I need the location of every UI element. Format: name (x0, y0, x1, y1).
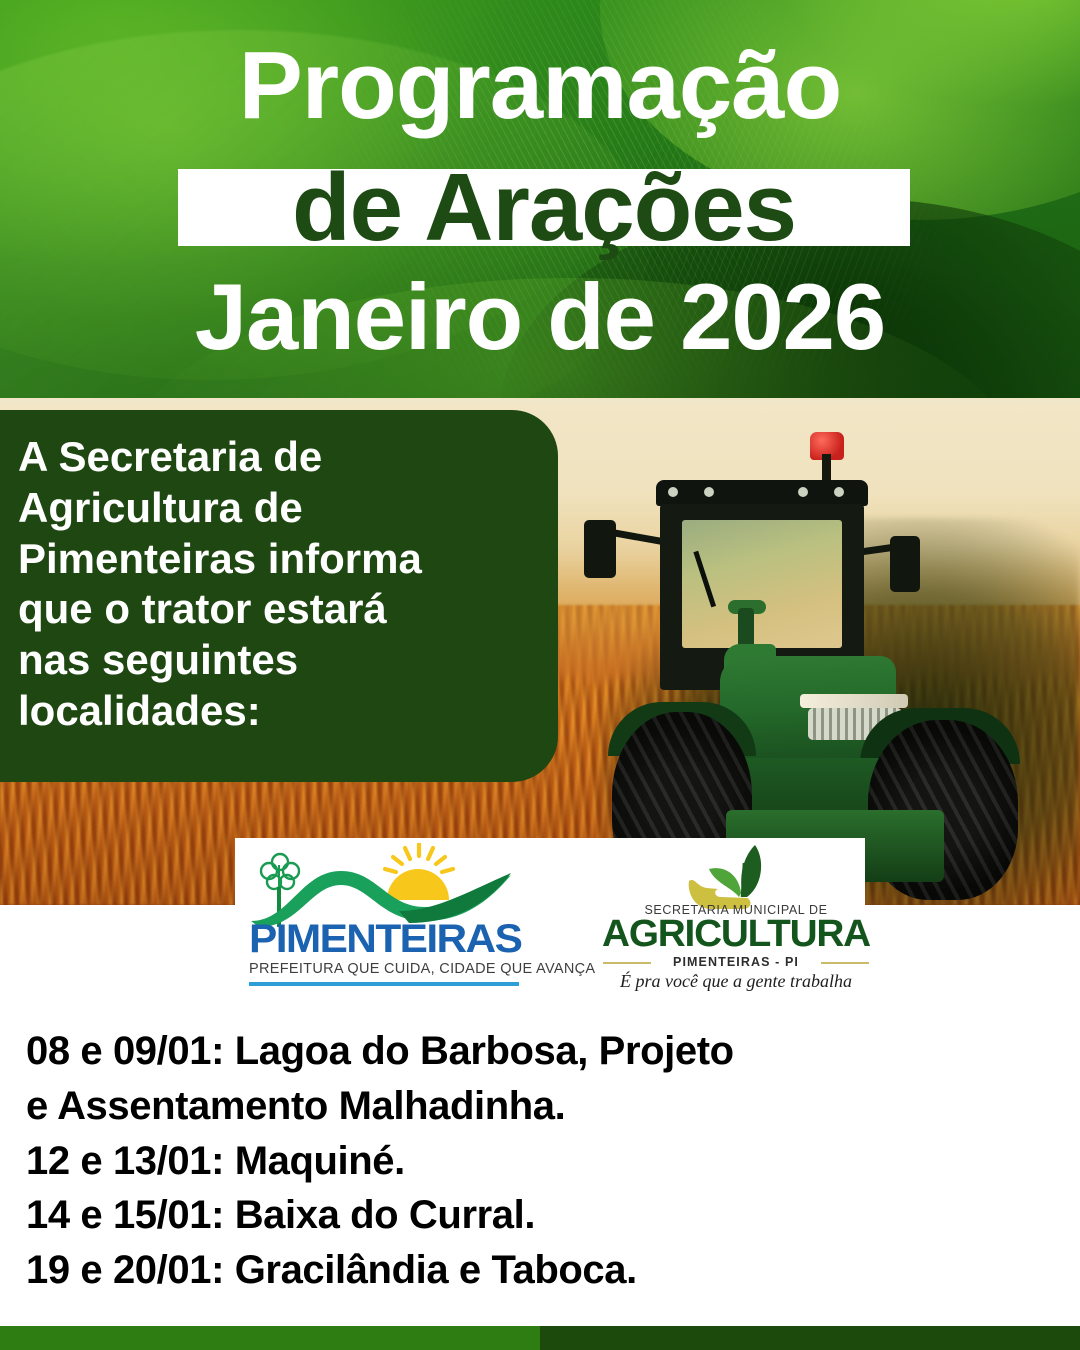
agricultura-city-label: PIMENTEIRAS - PI (597, 955, 875, 969)
agricultura-logo-art (597, 845, 875, 907)
agricultura-logo: SECRETARIA MUNICIPAL DE AGRICULTURA PIME… (597, 845, 875, 995)
agricultura-slogan: É pra você que a gente trabalha (597, 971, 875, 992)
title-line-de-aracoes: de Arações (178, 152, 910, 264)
tractor-mirror-right (890, 536, 920, 592)
bottom-bar-left-segment (0, 1326, 540, 1350)
poster-title-group: Programação de Arações Janeiro de 2026 (0, 0, 1080, 398)
tractor-headlights (800, 694, 908, 708)
info-card-text: A Secretaria de Agricultura de Pimenteir… (18, 432, 528, 737)
logo-row: PIMENTEIRAS PREFEITURA QUE CUIDA, CIDADE… (235, 845, 875, 1000)
tractor-cab-roof (656, 480, 868, 506)
pimenteiras-logo-art (235, 845, 535, 925)
tractor-mirror-left (584, 520, 616, 578)
agricultura-wordmark: AGRICULTURA (594, 915, 878, 953)
header-banner: Programação de Arações Janeiro de 2026 (0, 0, 1080, 398)
leaf-sprout-icon (703, 841, 777, 899)
pimenteiras-logo: PIMENTEIRAS PREFEITURA QUE CUIDA, CIDADE… (235, 845, 535, 995)
schedule-item: 12 e 13/01: Maquiné. (26, 1134, 1056, 1189)
bottom-bar-right-segment (540, 1326, 1080, 1350)
schedule-list: 08 e 09/01: Lagoa do Barbosa, Projeto e … (26, 1024, 1056, 1298)
title-line-janeiro-2026: Janeiro de 2026 (0, 270, 1080, 364)
schedule-item: 08 e 09/01: Lagoa do Barbosa, Projeto e … (26, 1024, 1056, 1134)
info-card: A Secretaria de Agricultura de Pimenteir… (0, 410, 558, 782)
title-line-programacao: Programação (0, 38, 1080, 134)
schedule-item: 19 e 20/01: Gracilândia e Taboca. (26, 1243, 1056, 1298)
pimenteiras-tagline: PREFEITURA QUE CUIDA, CIDADE QUE AVANÇA (249, 961, 595, 977)
schedule-item: 14 e 15/01: Baixa do Curral. (26, 1188, 1056, 1243)
pimenteiras-wordmark: PIMENTEIRAS (249, 919, 521, 959)
tractor-mirror-arm-left (614, 530, 666, 546)
pimenteiras-underline (249, 982, 519, 986)
bottom-bar (0, 1326, 1080, 1350)
poster-root: Programação de Arações Janeiro de 2026 (0, 0, 1080, 1350)
